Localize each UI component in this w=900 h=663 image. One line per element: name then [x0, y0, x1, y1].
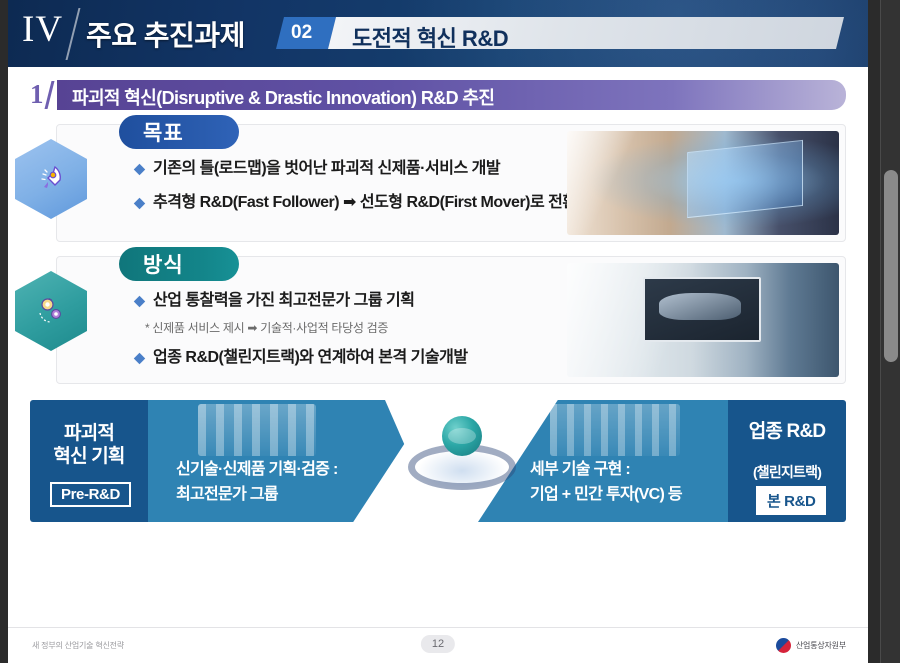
- chapter-numeral: IV: [22, 11, 63, 48]
- presentation-slide: IV 주요 추진과제 02 도전적 혁신 R&D 1 파괴적 혁신(Disrup…: [8, 0, 868, 663]
- globe-icon: [442, 416, 482, 456]
- page-number-badge: 12: [421, 635, 455, 653]
- slide-viewer: IV 주요 추진과제 02 도전적 혁신 R&D 1 파괴적 혁신(Disrup…: [0, 0, 900, 663]
- scrollbar-thumb[interactable]: [884, 170, 898, 362]
- section-number-label: 02: [291, 22, 312, 44]
- goal-bullet-1: 기존의 틀(로드맵)을 벗어난 파괴적 신제품·서비스 개발: [153, 159, 500, 180]
- funnel-right-title: 업종 R&D: [728, 420, 846, 443]
- method-card: 방식 산업 통찰력을 가진 최고전문가 그룹 기획 * 신제품 서비스 제시 ➡…: [56, 256, 846, 384]
- funnel-left-title: 파괴적혁신 기획: [30, 422, 148, 468]
- vertical-scrollbar[interactable]: [880, 0, 900, 663]
- main-rnd-chip: 본 R&D: [756, 486, 826, 515]
- topic-number: 1: [30, 79, 44, 110]
- topic-heading-text: 파괴적 혁신(Disruptive & Drastic Innovation) …: [72, 84, 494, 110]
- design-meeting-photo: [567, 263, 839, 377]
- pre-rnd-chip: Pre-R&D: [50, 482, 131, 507]
- goal-card: 목표 기존의 틀(로드맵)을 벗어난 파괴적 신제품·서비스 개발 추격형 R&…: [56, 124, 846, 242]
- topic-heading: 1 파괴적 혁신(Disruptive & Drastic Innovation…: [30, 80, 846, 110]
- footer-document-title: 새 정부의 산업기술 혁신전략: [32, 640, 124, 651]
- header-divider: [66, 8, 81, 60]
- goal-bullet-2: 추격형 R&D(Fast Follower) ➡ 선도형 R&D(First M…: [153, 193, 577, 214]
- slide-footer: 새 정부의 산업기술 혁신전략 12 산업통상자원부: [8, 627, 868, 663]
- goal-badge: 목표: [119, 115, 239, 149]
- slide-header: IV 주요 추진과제 02 도전적 혁신 R&D: [8, 0, 868, 67]
- ministry-logo: 산업통상자원부: [776, 638, 846, 653]
- method-bullet-1: 산업 통찰력을 가진 최고전문가 그룹 기획: [153, 291, 414, 312]
- hologram-touch-photo: [567, 131, 839, 235]
- topic-slash-icon: [45, 81, 55, 109]
- process-funnel-diagram: 파괴적혁신 기획 Pre-R&D 신기술·신제품 기획·검증 :최고전문가 그룹…: [30, 400, 846, 522]
- ministry-logo-text: 산업통상자원부: [796, 640, 846, 651]
- funnel-body-left: 신기술·신제품 기획·검증 :최고전문가 그룹: [176, 458, 406, 508]
- bullet-marker-icon: [134, 198, 145, 209]
- tech-lab-illustration: [550, 404, 680, 456]
- method-bullet-2: 업종 R&D(챌린지트랙)와 연계하여 본격 기술개발: [153, 348, 468, 369]
- funnel-right-subtitle: (챌린지트랙): [728, 462, 846, 482]
- bullet-marker-icon: [134, 296, 145, 307]
- taegeuk-icon: [776, 638, 791, 653]
- expert-booth-illustration: [198, 404, 316, 456]
- section-name-label: 도전적 혁신 R&D: [352, 21, 508, 53]
- bullet-marker-icon: [134, 164, 145, 175]
- method-badge: 방식: [119, 247, 239, 281]
- bullet-marker-icon: [134, 353, 145, 364]
- page-title: 주요 추진과제: [86, 14, 245, 54]
